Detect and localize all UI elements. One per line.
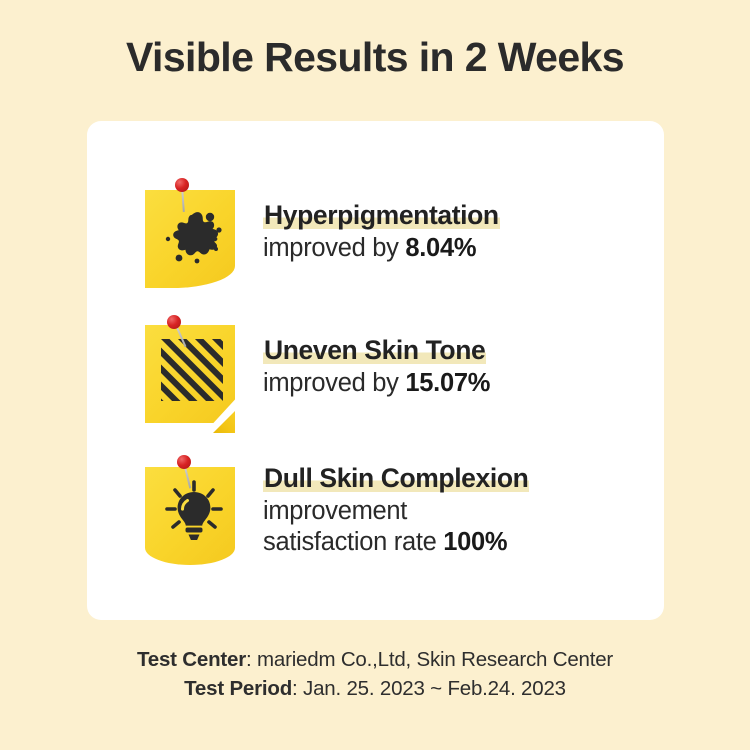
sticky-note-2 bbox=[145, 313, 243, 425]
result-body-line: improved by 8.04% bbox=[263, 233, 500, 264]
result-heading: Hyperpigmentation bbox=[263, 200, 500, 230]
body-text: improved by bbox=[263, 369, 405, 397]
body-value: 8.04% bbox=[405, 234, 476, 262]
result-heading: Dull Skin Complexion bbox=[263, 463, 529, 493]
lightbulb-icon bbox=[145, 455, 243, 567]
result-text-3: Dull Skin Complexion improvement satisfa… bbox=[263, 455, 529, 558]
diagonal-stripes-icon bbox=[145, 313, 243, 425]
result-heading: Uneven Skin Tone bbox=[263, 335, 486, 365]
result-item: Uneven Skin Tone improved by 15.07% bbox=[145, 313, 490, 425]
sticky-note-1 bbox=[145, 178, 243, 290]
body-value: 15.07% bbox=[405, 369, 490, 397]
infographic-page: Visible Results in 2 Weeks bbox=[0, 0, 750, 750]
test-period-value: : Jan. 25. 2023 ~ Feb.24. 2023 bbox=[292, 677, 566, 700]
test-center-value: : mariedm Co.,Ltd, Skin Research Center bbox=[246, 648, 613, 671]
page-title: Visible Results in 2 Weeks bbox=[0, 34, 750, 81]
result-body-line: improved by 15.07% bbox=[263, 368, 490, 399]
result-text-2: Uneven Skin Tone improved by 15.07% bbox=[263, 313, 490, 399]
body-text: improvement bbox=[263, 497, 407, 525]
body-text: improved by bbox=[263, 234, 405, 262]
ink-splatter-icon bbox=[145, 178, 243, 290]
test-center-label: Test Center bbox=[137, 648, 246, 671]
result-item: Dull Skin Complexion improvement satisfa… bbox=[145, 455, 529, 567]
test-center-line: Test Center: mariedm Co.,Ltd, Skin Resea… bbox=[0, 645, 750, 674]
result-text-1: Hyperpigmentation improved by 8.04% bbox=[263, 178, 500, 264]
body-text: satisfaction rate bbox=[263, 528, 443, 556]
body-value: 100% bbox=[443, 528, 507, 556]
test-period-label: Test Period bbox=[184, 677, 292, 700]
sticky-note-3 bbox=[145, 455, 243, 567]
test-period-line: Test Period: Jan. 25. 2023 ~ Feb.24. 202… bbox=[0, 674, 750, 703]
result-body-line: improvement bbox=[263, 496, 529, 527]
result-item: Hyperpigmentation improved by 8.04% bbox=[145, 178, 500, 290]
result-body-line: satisfaction rate 100% bbox=[263, 527, 529, 558]
footer: Test Center: mariedm Co.,Ltd, Skin Resea… bbox=[0, 645, 750, 703]
